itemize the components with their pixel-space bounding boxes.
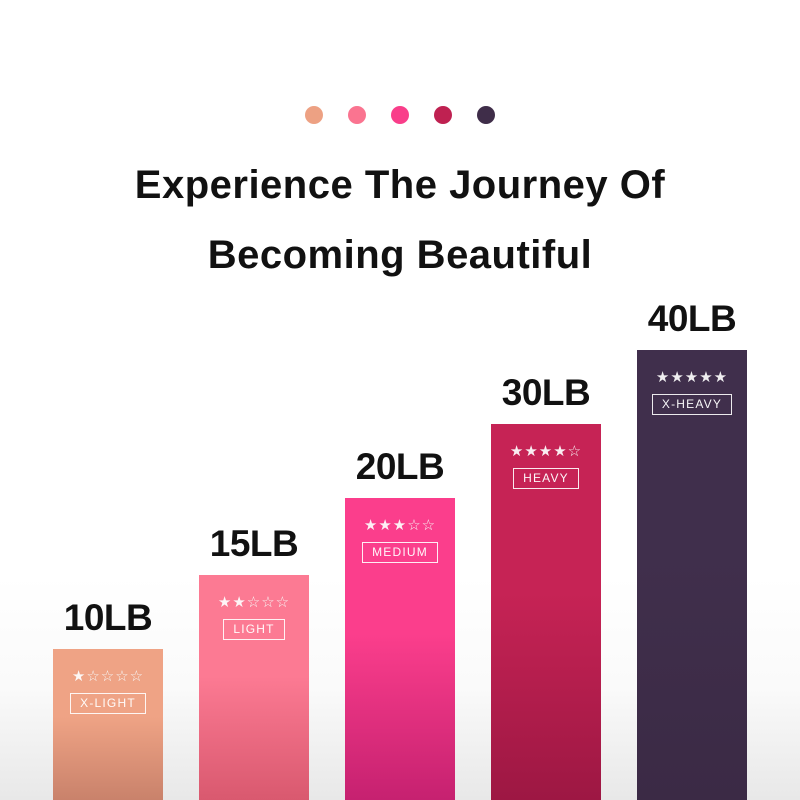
bar-value-label: 30LB [502,372,590,414]
resistance-level-badge: LIGHT [223,619,284,640]
bar-value-label: 20LB [356,446,444,488]
bar-value-label: 40LB [648,298,736,340]
bar-group-20lb[interactable]: 20LB★★★☆☆MEDIUM [345,498,455,800]
star-rating: ★★★☆☆ [364,518,436,533]
star-rating: ★★★★★ [656,370,728,385]
bar-value-label: 10LB [64,597,152,639]
bar-15lb[interactable]: ★★☆☆☆LIGHT [199,575,309,800]
star-rating: ★★★★☆ [510,444,582,459]
bar-40lb[interactable]: ★★★★★X-HEAVY [637,350,747,800]
bar-20lb[interactable]: ★★★☆☆MEDIUM [345,498,455,800]
bar-30lb[interactable]: ★★★★☆HEAVY [491,424,601,800]
bar-value-label: 15LB [210,523,298,565]
infographic-stage: Experience The Journey Of Becoming Beaut… [0,0,800,800]
bar-group-15lb[interactable]: 15LB★★☆☆☆LIGHT [199,575,309,800]
resistance-level-badge: HEAVY [513,468,579,489]
bar-10lb[interactable]: ★☆☆☆☆X-LIGHT [53,649,163,800]
bar-group-30lb[interactable]: 30LB★★★★☆HEAVY [491,424,601,800]
star-rating: ★☆☆☆☆ [72,669,144,684]
resistance-bar-chart: 10LB★☆☆☆☆X-LIGHT15LB★★☆☆☆LIGHT20LB★★★☆☆M… [0,0,800,800]
resistance-level-badge: X-HEAVY [652,394,732,415]
star-rating: ★★☆☆☆ [218,595,290,610]
resistance-level-badge: MEDIUM [362,542,438,563]
bar-group-10lb[interactable]: 10LB★☆☆☆☆X-LIGHT [53,649,163,800]
resistance-level-badge: X-LIGHT [70,693,146,714]
bar-group-40lb[interactable]: 40LB★★★★★X-HEAVY [637,350,747,800]
